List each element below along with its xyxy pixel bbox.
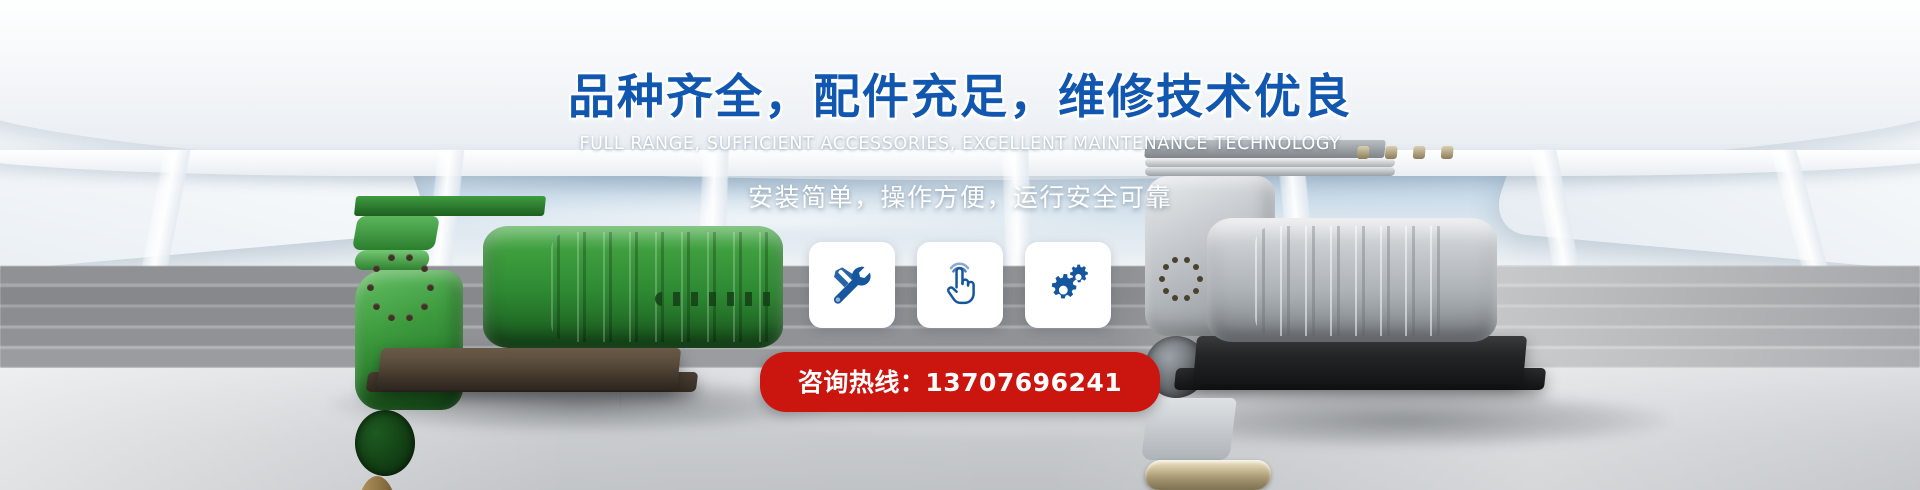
- banner-headline: 品种齐全，配件充足，维修技术优良: [568, 74, 1352, 121]
- feature-icon-hand-click[interactable]: [917, 242, 1003, 328]
- feature-icon-gears[interactable]: [1025, 242, 1111, 328]
- banner-content: 品种齐全，配件充足，维修技术优良 FULL RANGE, SUFFICIENT …: [0, 0, 1920, 490]
- feature-icon-tools[interactable]: [809, 242, 895, 328]
- gears-icon: [1045, 262, 1091, 308]
- promo-banner: 品种齐全，配件充足，维修技术优良 FULL RANGE, SUFFICIENT …: [0, 0, 1920, 490]
- feature-icon-row: [809, 242, 1111, 328]
- tools-icon: [829, 262, 875, 308]
- hand-click-icon: [937, 262, 983, 308]
- hotline-badge[interactable]: 咨询热线：13707696241: [760, 352, 1160, 412]
- banner-subheadline-chinese: 安装简单，操作方便，运行安全可靠: [748, 178, 1172, 214]
- banner-subheadline-english: FULL RANGE, SUFFICIENT ACCESSORIES, EXCE…: [579, 134, 1340, 154]
